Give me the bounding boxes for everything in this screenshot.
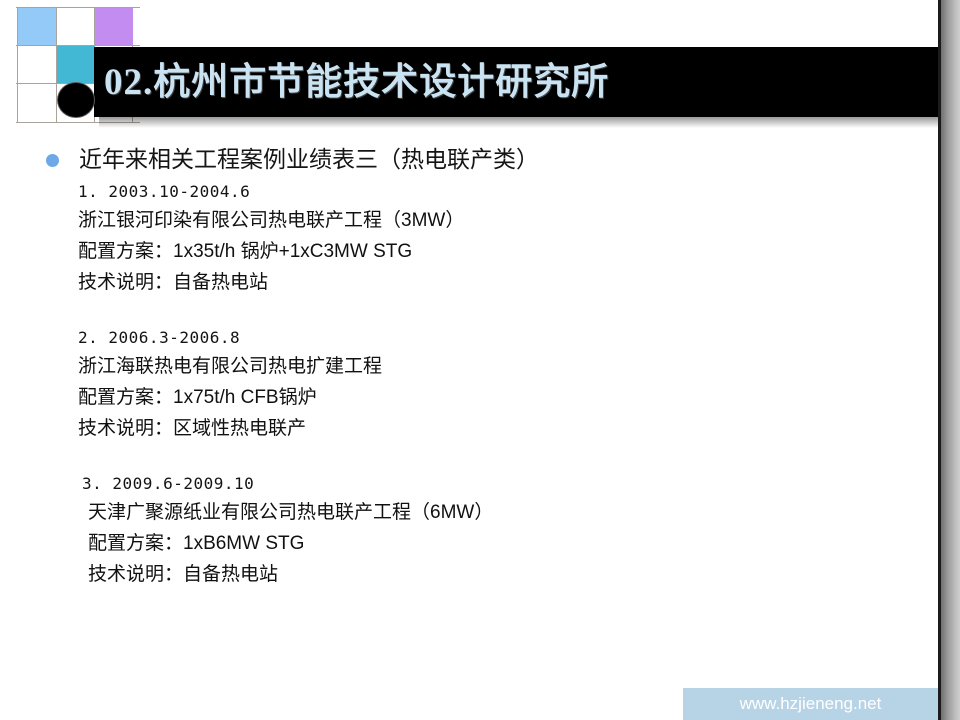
page-title: 02.杭州市节能技术设计研究所: [104, 54, 904, 112]
project-entry: 3. 2009.6-2009.10 天津广聚源纸业有限公司热电联产工程（6MW）…: [78, 470, 878, 590]
footer-website-text: www.hzjieneng.net: [683, 688, 938, 720]
entry-period: 3. 2009.6-2009.10: [82, 470, 878, 497]
entry-technical-note: 技术说明：自备热电站: [78, 267, 878, 298]
entry-technical-note: 技术说明：自备热电站: [82, 559, 878, 590]
entry-configuration: 配置方案：1x75t/h CFB锅炉: [78, 382, 878, 413]
decorative-square-teal: [57, 46, 95, 83]
bullet-heading-label: 近年来相关工程案例业绩表三（热电联产类）: [79, 143, 539, 177]
entry-technical-note: 技术说明：区域性热电联产: [78, 413, 878, 444]
entry-spacer: [78, 444, 878, 470]
entry-project: 浙江海联热电有限公司热电扩建工程: [78, 351, 878, 382]
decorative-circle-icon: [57, 82, 95, 118]
project-entry: 1. 2003.10-2004.6 浙江银河印染有限公司热电联产工程（3MW） …: [78, 178, 878, 298]
decorative-square-purple: [95, 8, 133, 45]
project-entry-list: 1. 2003.10-2004.6 浙江银河印染有限公司热电联产工程（3MW） …: [78, 178, 878, 590]
entry-configuration: 配置方案：1xB6MW STG: [82, 528, 878, 559]
entry-period: 1. 2003.10-2004.6: [78, 178, 878, 205]
entry-period: 2. 2006.3-2006.8: [78, 324, 878, 351]
title-bar-shadow: [99, 117, 938, 128]
bullet-heading: 近年来相关工程案例业绩表三（热电联产类）: [46, 143, 539, 177]
entry-spacer: [78, 298, 878, 324]
entry-project: 浙江银河印染有限公司热电联产工程（3MW）: [78, 205, 878, 236]
decorative-square-light-blue: [18, 8, 56, 45]
entry-configuration: 配置方案：1x35t/h 锅炉+1xC3MW STG: [78, 236, 878, 267]
bullet-dot-icon: [46, 154, 59, 167]
slide-canvas: 02.杭州市节能技术设计研究所 近年来相关工程案例业绩表三（热电联产类） 1. …: [0, 0, 960, 720]
entry-project: 天津广聚源纸业有限公司热电联产工程（6MW）: [82, 497, 878, 528]
page-edge-shadow: [941, 0, 960, 720]
project-entry: 2. 2006.3-2006.8 浙江海联热电有限公司热电扩建工程 配置方案：1…: [78, 324, 878, 444]
